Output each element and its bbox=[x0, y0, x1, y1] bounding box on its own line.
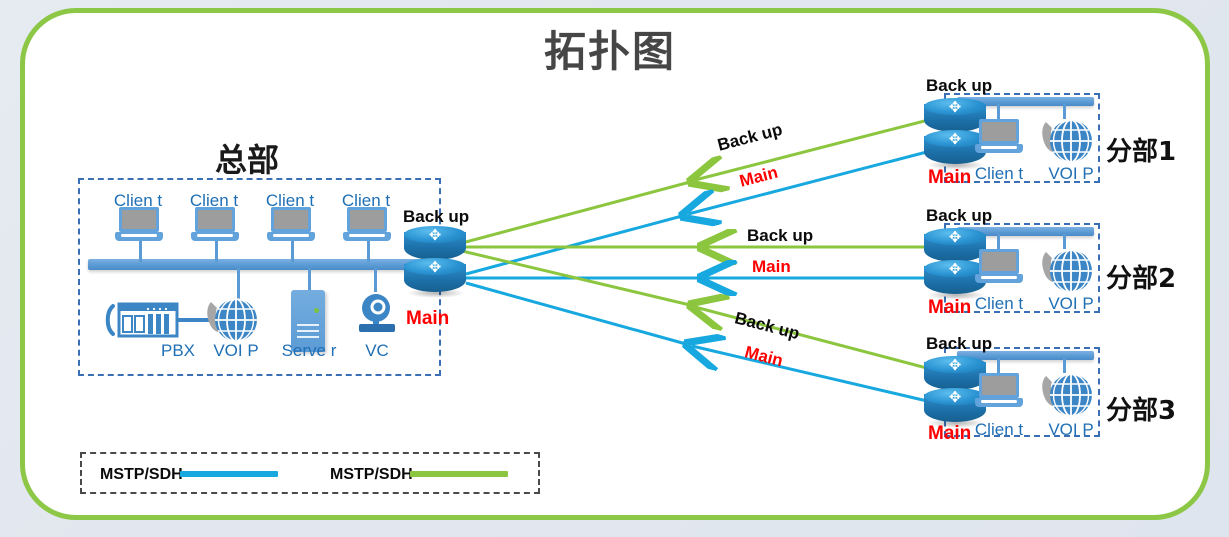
voip-globe-icon[interactable] bbox=[213, 297, 259, 343]
hq-server-label: Serve r bbox=[281, 341, 337, 361]
hq-router-main[interactable]: ✥ bbox=[404, 258, 466, 298]
hq-client-label-4: Clien t bbox=[339, 191, 393, 211]
branch-3-title: 分部3 bbox=[1106, 390, 1176, 427]
vc-webcam-icon[interactable] bbox=[353, 292, 399, 334]
drop-line bbox=[374, 268, 377, 292]
laptop-base bbox=[975, 144, 1023, 153]
drop-line bbox=[1063, 358, 1066, 373]
legend-swatch-main bbox=[180, 471, 278, 477]
branch-2-voip-globe-icon[interactable] bbox=[1048, 248, 1094, 294]
router-arrows-icon: ✥ bbox=[940, 133, 970, 146]
hq-client-laptop-1[interactable] bbox=[115, 207, 163, 243]
drop-line bbox=[139, 240, 142, 262]
router-arrows-icon: ✥ bbox=[940, 263, 970, 276]
hq-client-laptop-2[interactable] bbox=[191, 207, 239, 243]
laptop-base bbox=[343, 232, 391, 241]
router-arrows-icon: ✥ bbox=[940, 391, 970, 404]
branch-2-router-main-label: Main bbox=[928, 297, 971, 319]
branch-2-title: 分部2 bbox=[1106, 258, 1176, 295]
hq-client-label-1: Clien t bbox=[111, 191, 165, 211]
router-arrows-icon: ✥ bbox=[940, 101, 970, 114]
hq-client-label-3: Clien t bbox=[263, 191, 317, 211]
legend-label-1: MSTP/SDH bbox=[100, 466, 183, 484]
laptop-base bbox=[115, 232, 163, 241]
drop-line bbox=[997, 234, 1000, 249]
branch-1-voip-globe-icon[interactable] bbox=[1048, 118, 1094, 164]
branch-1-router-backup-label: Back up bbox=[926, 76, 992, 96]
router-arrows-icon: ✥ bbox=[420, 261, 450, 274]
hq-voip-label: VOI P bbox=[209, 341, 263, 361]
hq-pbx-label: PBX bbox=[148, 341, 208, 361]
topology-diagram: 拓扑图 总部 Clien t Clien t Clien t Clien t bbox=[0, 0, 1229, 537]
router-arrows-icon: ✥ bbox=[420, 229, 450, 242]
drop-line bbox=[308, 268, 311, 290]
laptop-screen bbox=[979, 249, 1019, 274]
drop-line bbox=[237, 268, 240, 300]
branch-2-client-label: Clien t bbox=[972, 294, 1026, 314]
drop-line bbox=[997, 358, 1000, 373]
headquarters-title: 总部 bbox=[215, 135, 279, 181]
hq-client-laptop-3[interactable] bbox=[267, 207, 315, 243]
branch-3-client-label: Clien t bbox=[972, 420, 1026, 440]
branch-2-client-laptop[interactable] bbox=[975, 249, 1023, 285]
branch-2-backup-link-label: Back up bbox=[747, 226, 813, 246]
branch-2-main-link-label: Main bbox=[752, 257, 791, 277]
laptop-base bbox=[975, 274, 1023, 283]
hq-router-main-label: Main bbox=[406, 308, 449, 330]
drop-line bbox=[367, 240, 370, 262]
router-arrows-icon: ✥ bbox=[940, 359, 970, 372]
branch-3-client-laptop[interactable] bbox=[975, 373, 1023, 409]
drop-line bbox=[291, 240, 294, 262]
pbx-icon[interactable] bbox=[104, 300, 180, 340]
branch-1-client-laptop[interactable] bbox=[975, 119, 1023, 155]
hq-router-backup-label: Back up bbox=[403, 207, 469, 227]
drop-line bbox=[1063, 234, 1066, 249]
server-line bbox=[297, 330, 319, 332]
legend-swatch-backup bbox=[410, 471, 508, 477]
server-line bbox=[297, 336, 319, 338]
branch-1-title: 分部1 bbox=[1106, 131, 1176, 168]
laptop-base bbox=[191, 232, 239, 241]
laptop-base bbox=[975, 398, 1023, 407]
hq-client-laptop-4[interactable] bbox=[343, 207, 391, 243]
router-arrows-icon: ✥ bbox=[940, 231, 970, 244]
branch-1-router-main-label: Main bbox=[928, 167, 971, 189]
branch-1-client-label: Clien t bbox=[972, 164, 1026, 184]
branch-1-voip-label: VOI P bbox=[1044, 164, 1098, 184]
legend-label-2: MSTP/SDH bbox=[330, 466, 413, 484]
server-led bbox=[314, 308, 319, 313]
branch-3-router-backup-label: Back up bbox=[926, 334, 992, 354]
drop-line bbox=[215, 240, 218, 262]
branch-2-router-backup-label: Back up bbox=[926, 206, 992, 226]
hq-client-label-2: Clien t bbox=[187, 191, 241, 211]
laptop-screen bbox=[979, 373, 1019, 398]
drop-line bbox=[997, 104, 1000, 119]
branch-3-voip-label: VOI P bbox=[1044, 420, 1098, 440]
page-title: 拓扑图 bbox=[500, 18, 720, 79]
branch-2-voip-label: VOI P bbox=[1044, 294, 1098, 314]
branch-3-voip-globe-icon[interactable] bbox=[1048, 372, 1094, 418]
server-line bbox=[297, 324, 319, 326]
laptop-base bbox=[267, 232, 315, 241]
laptop-screen bbox=[979, 119, 1019, 144]
drop-line bbox=[1063, 104, 1066, 119]
hq-vc-label: VC bbox=[359, 341, 395, 361]
branch-3-router-main-label: Main bbox=[928, 423, 971, 445]
